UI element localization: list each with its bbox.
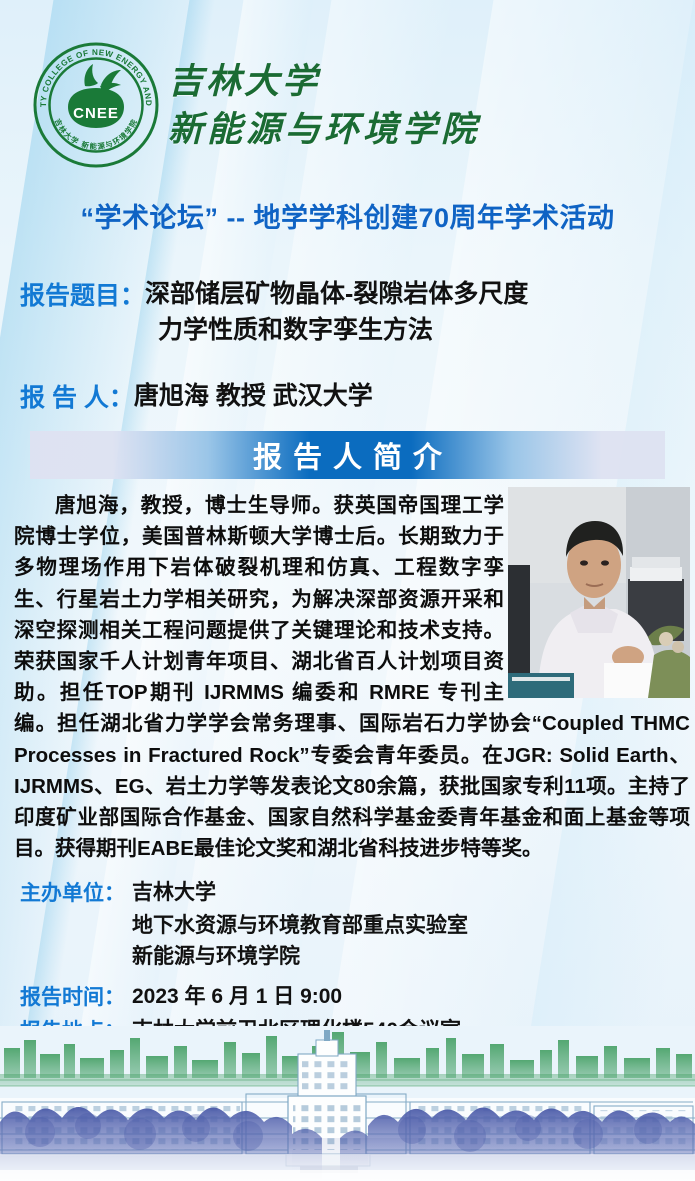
speaker-block: 报 告 人： 唐旭海 教授 武汉大学 — [20, 378, 373, 414]
time-row: 报告时间： 2023 年 6 月 1 日 9:00 — [20, 981, 680, 1012]
organizer-line1: 吉林大学 — [132, 877, 216, 908]
svg-text:CNEE: CNEE — [73, 105, 119, 122]
report-title-block: 报告题目： 深部储层矿物晶体-裂隙岩体多尺度 力学性质和数字孪生方法 — [20, 276, 680, 348]
bio-section-banner-text: 报告人简介 — [30, 431, 665, 479]
poster-root: JILIN UNIVERSITY COLLEGE OF NEW ENERGY A… — [0, 0, 695, 1181]
organizer-line3: 新能源与环境学院 — [132, 941, 680, 972]
university-name: 吉林大学 新能源与环境学院 — [168, 58, 480, 154]
university-name-line1: 吉林大学 — [168, 58, 480, 106]
cnee-logo-icon: JILIN UNIVERSITY COLLEGE OF NEW ENERGY A… — [33, 42, 159, 168]
campus-illustration — [0, 1026, 695, 1181]
bio-section-banner: 报告人简介 — [30, 431, 665, 479]
poster-header: JILIN UNIVERSITY COLLEGE OF NEW ENERGY A… — [0, 0, 695, 172]
time-label: 报告时间： — [20, 981, 132, 1011]
speaker-bio: 唐旭海，教授，博士生导师。获英国帝国理工学院博士学位，美国普林斯顿大学博士后。长… — [14, 490, 690, 864]
bio-photo-wrap — [504, 490, 690, 698]
speaker-label: 报 告 人： — [20, 378, 134, 414]
university-name-line2: 新能源与环境学院 — [168, 106, 480, 154]
organizer-line2: 地下水资源与环境教育部重点实验室 — [132, 910, 680, 941]
report-title-line2: 力学性质和数字孪生方法 — [158, 312, 680, 348]
report-title-label: 报告题目： — [20, 276, 145, 312]
time-value: 2023 年 6 月 1 日 9:00 — [132, 981, 342, 1012]
poster-main-title: “学术论坛” -- 地学学科创建70周年学术活动 — [0, 196, 695, 235]
speaker-value: 唐旭海 教授 武汉大学 — [134, 378, 373, 414]
organizer-row: 主办单位： 吉林大学 — [20, 877, 680, 908]
event-info-block: 主办单位： 吉林大学 地下水资源与环境教育部重点实验室 新能源与环境学院 报告时… — [20, 877, 680, 1048]
organizer-label: 主办单位： — [20, 877, 132, 907]
report-title-line1: 深部储层矿物晶体-裂隙岩体多尺度 — [145, 276, 528, 312]
